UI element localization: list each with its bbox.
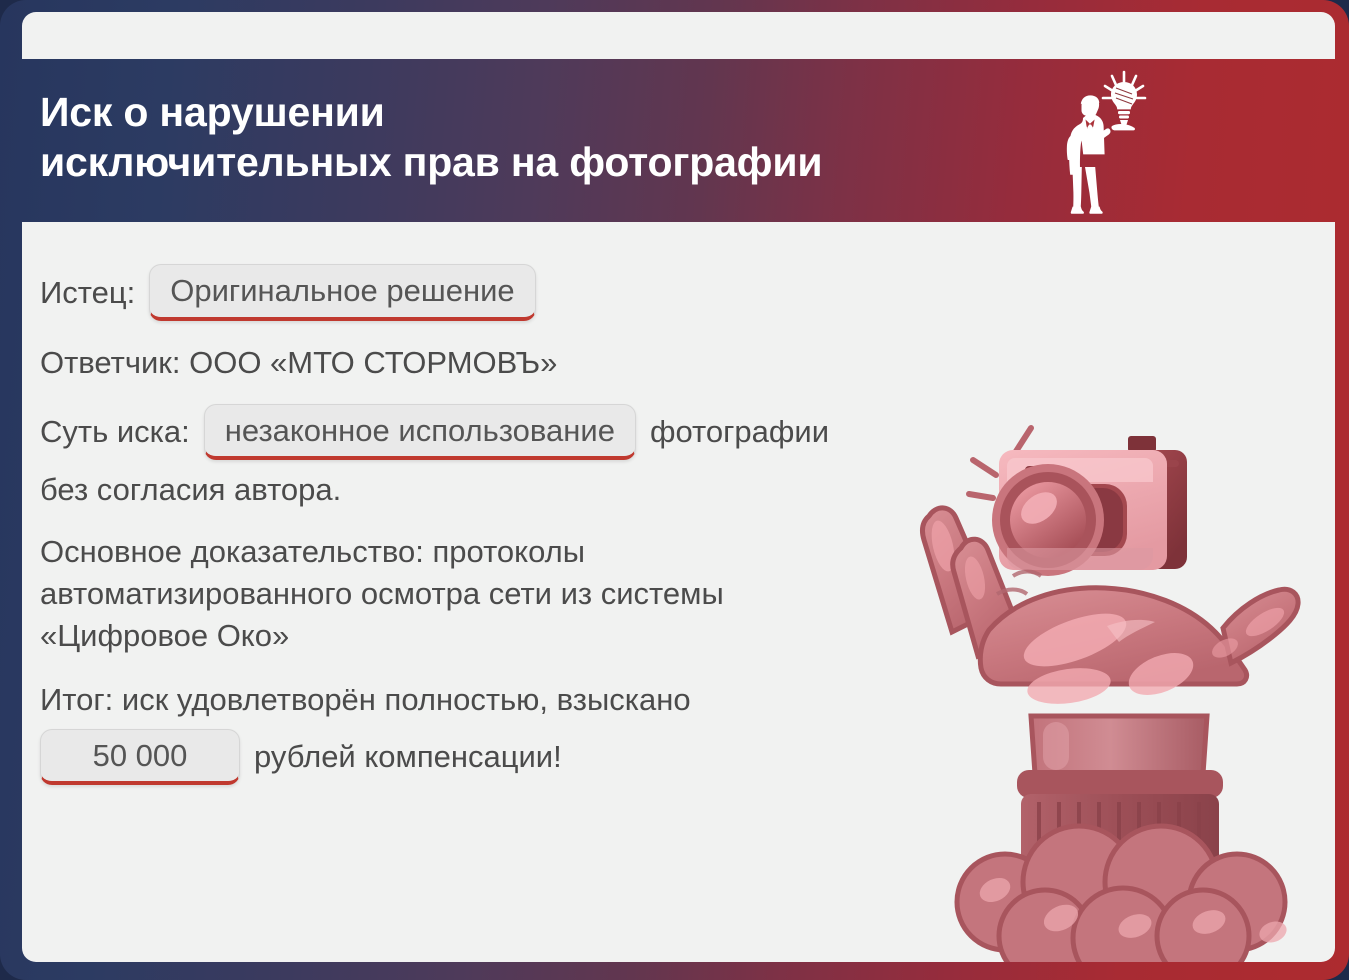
page-title: Иск о нарушении исключительных прав на ф… xyxy=(40,87,940,187)
compensation-row: 50 000 рублей компенсации! xyxy=(40,729,990,786)
card-frame: Иск о нарушении исключительных прав на ф… xyxy=(0,0,1349,980)
compensation-suffix-text: рублей компенсации! xyxy=(254,741,562,772)
defendant-row: Ответчик: ООО «МТО СТОРМОВЪ» xyxy=(40,347,990,378)
plaintiff-row: Истец: Оригинальное решение xyxy=(40,264,990,321)
outcome-text: Итог: иск удовлетворён полностью, взыска… xyxy=(40,682,691,717)
case-summary-body: Истец: Оригинальное решение Ответчик: ОО… xyxy=(40,264,990,785)
claim-after-text: фотографии xyxy=(650,416,829,447)
defendant-text: Ответчик: ООО «МТО СТОРМОВЪ» xyxy=(40,345,557,380)
claim-continuation-text: без согласия автора. xyxy=(40,472,341,507)
outcome-row: Итог: иск удовлетворён полностью, взыска… xyxy=(40,684,990,715)
businessman-with-lightbulb-icon xyxy=(1050,64,1170,219)
plaintiff-chip[interactable]: Оригинальное решение xyxy=(149,264,535,321)
evidence-text: Основное доказательство: протоколы автом… xyxy=(40,534,724,653)
claim-chip[interactable]: незаконное использование xyxy=(204,404,636,461)
claim-label: Суть иска: xyxy=(40,416,190,447)
plaintiff-label: Истец: xyxy=(40,277,135,308)
claim-continuation-row: без согласия автора. xyxy=(40,474,990,505)
card-header: Иск о нарушении исключительных прав на ф… xyxy=(22,59,1335,222)
card-content-panel: Истец: Оригинальное решение Ответчик: ОО… xyxy=(22,222,1335,962)
compensation-amount-chip[interactable]: 50 000 xyxy=(40,729,240,786)
evidence-row: Основное доказательство: протоколы автом… xyxy=(40,531,900,657)
claim-row: Суть иска: незаконное использование фото… xyxy=(40,404,990,461)
card-top-strip xyxy=(22,12,1335,59)
